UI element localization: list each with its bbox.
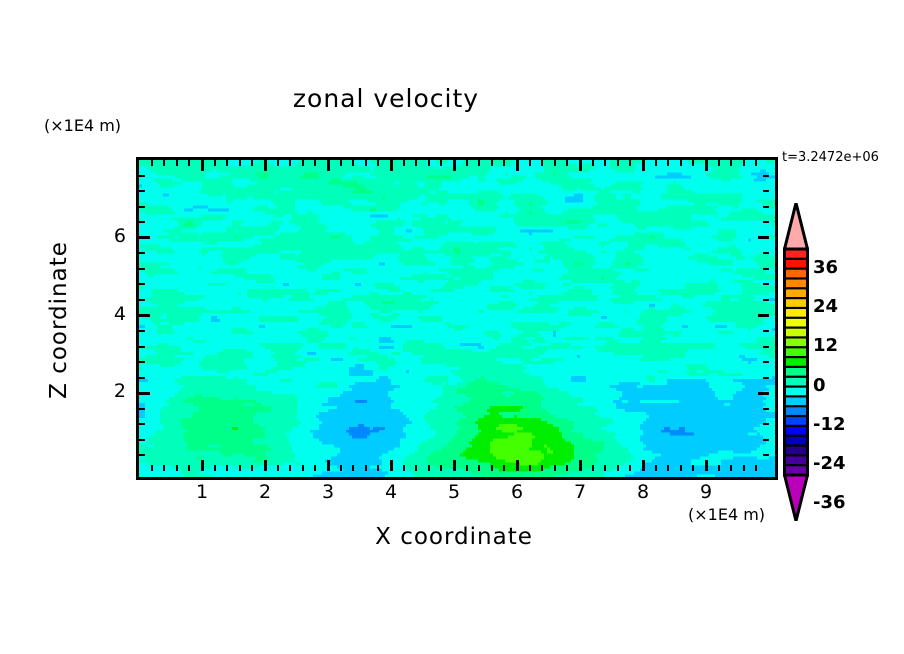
x-major-tick-top <box>390 460 393 471</box>
x-minor-tick-top <box>151 465 153 471</box>
x-minor-tick <box>415 160 417 166</box>
x-major-tick-top <box>201 460 204 471</box>
y-tick-label: 6 <box>86 225 126 247</box>
x-tick-label: 6 <box>497 481 537 503</box>
x-minor-tick-top <box>592 465 594 471</box>
x-minor-tick-top <box>529 465 531 471</box>
x-major-tick-top <box>327 460 330 471</box>
x-minor-tick <box>604 160 606 166</box>
x-minor-tick-top <box>188 465 190 471</box>
y-minor-tick <box>139 346 145 348</box>
x-minor-tick-top <box>554 465 556 471</box>
x-tick-label: 5 <box>434 481 474 503</box>
x-minor-tick <box>554 160 556 166</box>
y-minor-tick <box>139 330 145 332</box>
x-minor-tick <box>289 160 291 166</box>
x-minor-tick-top <box>340 465 342 471</box>
x-tick-label: 4 <box>371 481 411 503</box>
x-minor-tick-top <box>604 465 606 471</box>
y-minor-tick-r <box>763 330 769 332</box>
x-minor-tick <box>188 160 190 166</box>
x-minor-tick-top <box>730 465 732 471</box>
x-minor-tick <box>251 160 253 166</box>
x-minor-tick-top <box>440 465 442 471</box>
x-minor-tick-top <box>403 465 405 471</box>
y-minor-tick <box>139 190 145 192</box>
x-tick-label: 8 <box>623 481 663 503</box>
x-minor-tick <box>365 160 367 166</box>
x-minor-tick <box>566 160 568 166</box>
x-minor-tick <box>529 160 531 166</box>
y-minor-tick <box>139 408 145 410</box>
x-minor-tick <box>440 160 442 166</box>
x-minor-tick-top <box>478 465 480 471</box>
x-minor-tick <box>617 160 619 166</box>
y-minor-tick-r <box>763 346 769 348</box>
y-major-tick <box>139 392 150 395</box>
y-minor-tick <box>139 423 145 425</box>
colorbar-tick-label: -12 <box>813 414 846 435</box>
x-major-tick <box>201 160 204 171</box>
x-minor-tick-top <box>503 465 505 471</box>
x-minor-tick <box>163 160 165 166</box>
x-minor-tick <box>314 160 316 166</box>
y-minor-tick-r <box>763 190 769 192</box>
x-major-tick-top <box>516 460 519 471</box>
y-major-tick-r <box>758 236 769 239</box>
x-minor-tick <box>403 160 405 166</box>
y-minor-tick-r <box>763 175 769 177</box>
x-minor-tick <box>277 160 279 166</box>
x-minor-tick-top <box>239 465 241 471</box>
x-minor-tick <box>680 160 682 166</box>
y-major-tick-r <box>758 392 769 395</box>
x-major-tick <box>264 160 267 171</box>
page-title: zonal velocity <box>0 84 772 113</box>
y-axis-unit-label: (×1E4 m) <box>44 116 121 135</box>
colorbar-tick-label: 0 <box>813 375 826 396</box>
x-minor-tick <box>692 160 694 166</box>
y-minor-tick-r <box>763 377 769 379</box>
x-minor-tick <box>302 160 304 166</box>
timestamp-label: t=3.2472e+06 <box>782 150 879 165</box>
x-minor-tick-top <box>289 465 291 471</box>
y-minor-tick <box>139 268 145 270</box>
x-minor-tick-top <box>466 465 468 471</box>
y-minor-tick-r <box>763 408 769 410</box>
y-minor-tick-r <box>763 423 769 425</box>
x-minor-tick-top <box>491 465 493 471</box>
x-minor-tick <box>340 160 342 166</box>
x-minor-tick-top <box>667 465 669 471</box>
y-minor-tick <box>139 283 145 285</box>
y-minor-tick <box>139 299 145 301</box>
x-minor-tick-top <box>680 465 682 471</box>
x-minor-tick-top <box>176 465 178 471</box>
colorbar-tick-label: 12 <box>813 335 838 356</box>
y-minor-tick <box>139 252 145 254</box>
x-minor-tick <box>629 160 631 166</box>
x-minor-tick-top <box>214 465 216 471</box>
x-minor-tick-top <box>743 465 745 471</box>
y-minor-tick-r <box>763 439 769 441</box>
x-minor-tick <box>226 160 228 166</box>
x-minor-tick <box>743 160 745 166</box>
x-minor-tick-top <box>226 465 228 471</box>
y-minor-tick <box>139 377 145 379</box>
y-minor-tick-r <box>763 299 769 301</box>
figure-canvas: zonal velocity (×1E4 m) (×1E4 m) t=3.247… <box>0 0 904 654</box>
contour-plot-area <box>136 157 778 480</box>
colorbar-tick-label: -24 <box>813 453 846 474</box>
x-tick-label: 9 <box>686 481 726 503</box>
x-minor-tick-top <box>365 465 367 471</box>
x-major-tick <box>453 160 456 171</box>
x-minor-tick-top <box>617 465 619 471</box>
x-minor-tick <box>466 160 468 166</box>
x-major-tick-top <box>264 460 267 471</box>
x-minor-tick-top <box>302 465 304 471</box>
x-major-tick <box>642 160 645 171</box>
x-tick-label: 1 <box>182 481 222 503</box>
x-major-tick-top <box>579 460 582 471</box>
x-minor-tick-top <box>541 465 543 471</box>
x-minor-tick <box>377 160 379 166</box>
x-major-tick <box>327 160 330 171</box>
colorbar-tick-label: 36 <box>813 257 838 278</box>
y-minor-tick <box>139 206 145 208</box>
y-minor-tick-r <box>763 454 769 456</box>
y-minor-tick-r <box>763 361 769 363</box>
x-tick-label: 7 <box>560 481 600 503</box>
x-minor-tick <box>352 160 354 166</box>
y-major-tick-r <box>758 314 769 317</box>
x-minor-tick <box>541 160 543 166</box>
x-minor-tick <box>428 160 430 166</box>
x-minor-tick <box>214 160 216 166</box>
x-major-tick-top <box>453 460 456 471</box>
x-minor-tick-top <box>314 465 316 471</box>
y-minor-tick <box>139 454 145 456</box>
x-minor-tick-top <box>566 465 568 471</box>
x-tick-label: 2 <box>245 481 285 503</box>
x-minor-tick <box>730 160 732 166</box>
x-minor-tick-top <box>692 465 694 471</box>
x-minor-tick <box>239 160 241 166</box>
x-minor-tick <box>478 160 480 166</box>
x-axis-title: X coordinate <box>136 524 772 550</box>
x-minor-tick <box>667 160 669 166</box>
y-axis-title: Z coordinate <box>46 220 72 420</box>
x-minor-tick <box>718 160 720 166</box>
x-major-tick-top <box>642 460 645 471</box>
y-minor-tick-r <box>763 206 769 208</box>
x-minor-tick <box>755 160 757 166</box>
x-minor-tick-top <box>251 465 253 471</box>
y-minor-tick <box>139 221 145 223</box>
x-minor-tick <box>151 160 153 166</box>
x-major-tick <box>579 160 582 171</box>
colorbar-tick-label: 24 <box>813 296 838 317</box>
y-minor-tick <box>139 361 145 363</box>
x-minor-tick-top <box>277 465 279 471</box>
x-minor-tick-top <box>428 465 430 471</box>
x-minor-tick-top <box>163 465 165 471</box>
x-major-tick-top <box>705 460 708 471</box>
y-minor-tick <box>139 439 145 441</box>
x-minor-tick-top <box>415 465 417 471</box>
x-minor-tick-top <box>655 465 657 471</box>
x-axis-unit-label: (×1E4 m) <box>688 505 765 524</box>
y-tick-label: 4 <box>86 303 126 325</box>
colorbar-tick-label: -36 <box>813 492 846 513</box>
x-major-tick <box>390 160 393 171</box>
y-minor-tick <box>139 175 145 177</box>
y-major-tick <box>139 236 150 239</box>
x-minor-tick-top <box>718 465 720 471</box>
y-major-tick <box>139 314 150 317</box>
x-major-tick <box>516 160 519 171</box>
x-minor-tick <box>592 160 594 166</box>
y-minor-tick-r <box>763 268 769 270</box>
y-minor-tick-r <box>763 283 769 285</box>
x-minor-tick <box>655 160 657 166</box>
y-minor-tick-r <box>763 221 769 223</box>
x-minor-tick-top <box>377 465 379 471</box>
x-minor-tick <box>491 160 493 166</box>
x-major-tick <box>705 160 708 171</box>
colorbar[interactable] <box>783 203 809 521</box>
y-minor-tick-r <box>763 252 769 254</box>
x-minor-tick-top <box>629 465 631 471</box>
x-minor-tick <box>176 160 178 166</box>
x-minor-tick-top <box>755 465 757 471</box>
x-minor-tick-top <box>352 465 354 471</box>
contour-field <box>139 160 775 477</box>
y-tick-label: 2 <box>86 380 126 402</box>
x-minor-tick <box>503 160 505 166</box>
x-tick-label: 3 <box>308 481 348 503</box>
